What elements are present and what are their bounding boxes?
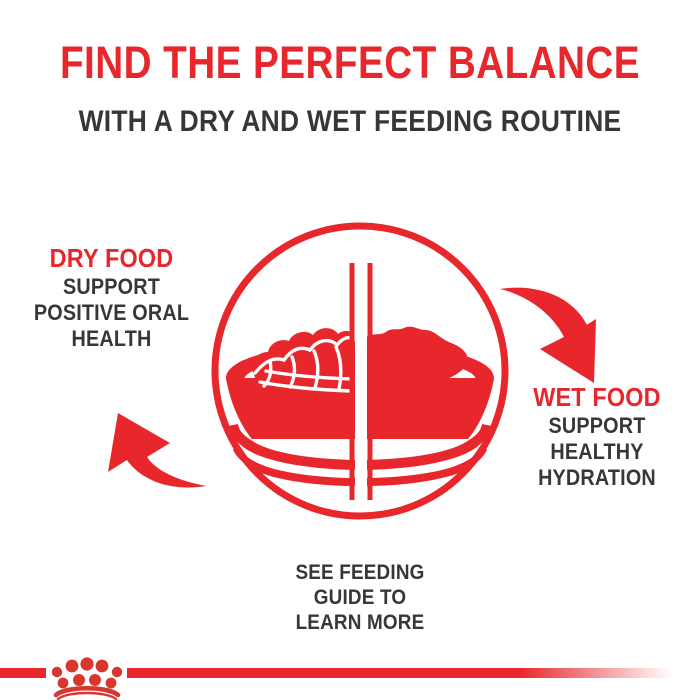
callout-wet-food: WET FOOD SUPPORT HEALTHY HYDRATION: [498, 382, 696, 491]
footer-bar-left-segment: [0, 668, 46, 678]
royal-canin-crown-logo: [48, 655, 126, 700]
dry-food-title: DRY FOOD: [24, 243, 200, 274]
feeding-routine-poster: FIND THE PERFECT BALANCE WITH A DRY AND …: [0, 0, 700, 700]
dry-food-line-3: HEALTH: [24, 326, 200, 352]
page-title: FIND THE PERFECT BALANCE: [49, 38, 651, 88]
footer-brand-bar: [0, 655, 700, 700]
dry-food-line-2: POSITIVE ORAL: [24, 300, 200, 326]
curved-arrow-up-left-icon: [78, 380, 208, 495]
wet-food-line-1: SUPPORT HEALTHY: [508, 413, 686, 465]
curved-arrow-down-right-icon: [498, 283, 628, 398]
feeding-guide-caption: SEE FEEDING GUIDE TO LEARN MORE: [240, 560, 480, 635]
page-subtitle: WITH A DRY AND WET FEEDING ROUTINE: [42, 104, 658, 140]
wet-food-title: WET FOOD: [508, 382, 686, 413]
dry-food-line-1: SUPPORT: [24, 274, 200, 300]
callout-dry-food: DRY FOOD SUPPORT POSITIVE ORAL HEALTH: [14, 243, 209, 352]
caption-line-3: LEARN MORE: [252, 610, 468, 635]
caption-line-1: SEE FEEDING: [252, 560, 468, 585]
caption-line-2: GUIDE TO: [252, 585, 468, 610]
wet-food-line-2: HYDRATION: [508, 465, 686, 491]
footer-bar-right-segment: [127, 668, 672, 678]
split-food-bowl-in-circle-icon: [200, 210, 520, 530]
